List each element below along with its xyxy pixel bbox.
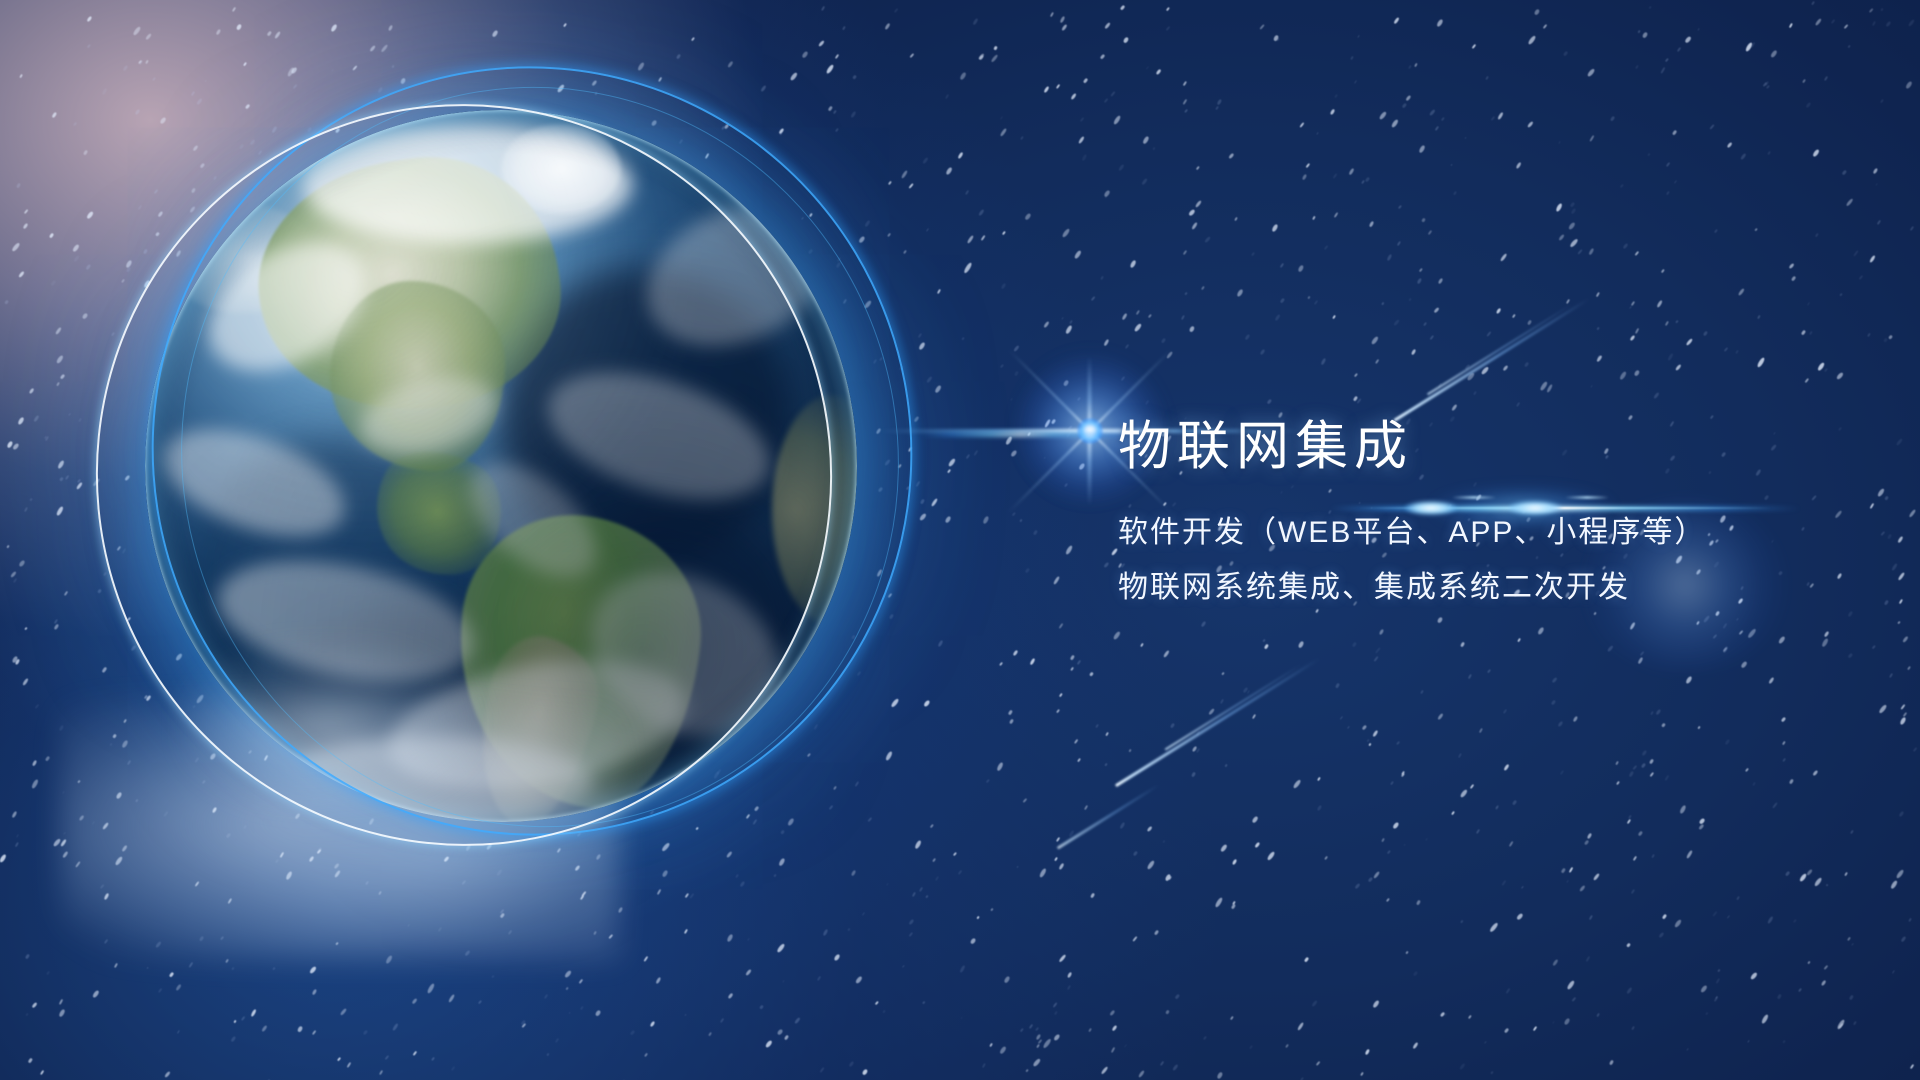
globe-limb-rim: [145, 110, 857, 822]
earth-globe: [145, 110, 857, 822]
globe-sphere: [145, 110, 857, 822]
meteor-tail: [1393, 297, 1590, 421]
banner-copy: 物联网集成 软件开发（WEB平台、APP、小程序等） 物联网系统集成、集成系统二…: [1118, 420, 1706, 615]
meteor-streak: [1058, 786, 1160, 850]
meteor-tail: [1115, 657, 1320, 787]
meteor-streak: [1395, 300, 1590, 422]
streak-line: [920, 432, 1140, 437]
meteor-tail: [1057, 783, 1160, 849]
subtitle-line-2: 物联网系统集成、集成系统二次开发: [1118, 561, 1706, 616]
meteor-streak: [1116, 660, 1320, 787]
banner-subtitle: 软件开发（WEB平台、APP、小程序等） 物联网系统集成、集成系统二次开发: [1118, 506, 1706, 615]
meteor-tail-secondary: [1164, 664, 1301, 750]
meteor-tail-secondary: [1427, 304, 1572, 396]
subtitle-line-1: 软件开发（WEB平台、APP、小程序等）: [1118, 506, 1706, 561]
iot-integration-banner: 物联网集成 软件开发（WEB平台、APP、小程序等） 物联网系统集成、集成系统二…: [0, 0, 1920, 1080]
flare-core: [1077, 418, 1103, 444]
horizontal-streak-flare-small: [920, 424, 1140, 444]
page-title: 物联网集成: [1118, 420, 1706, 473]
flare-vertical-beam: [1088, 356, 1091, 506]
star-flare: [1089, 430, 1090, 431]
